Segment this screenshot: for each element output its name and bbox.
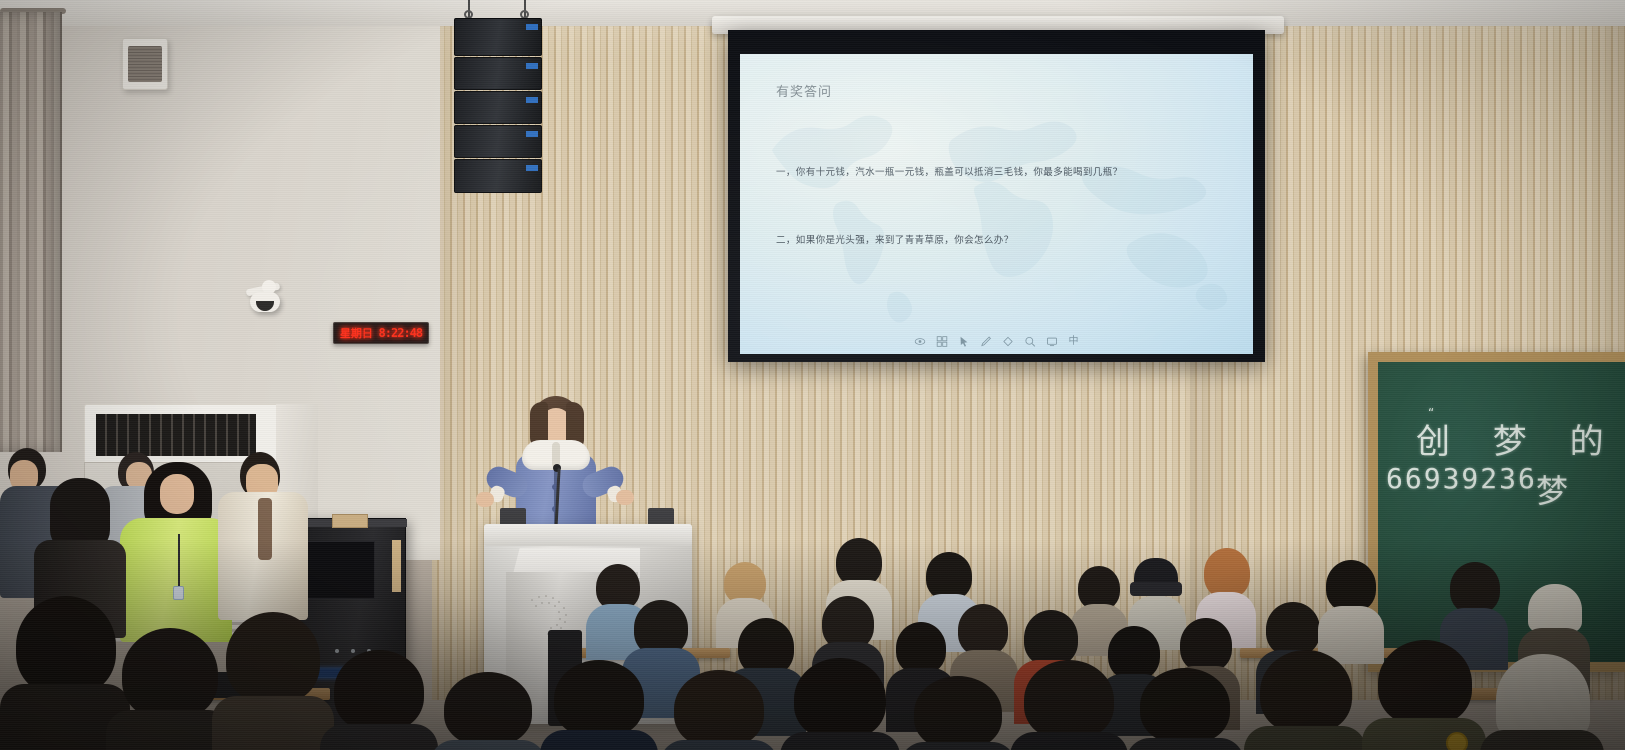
- wall-speaker: [122, 38, 168, 90]
- slide-toolbar[interactable]: 中: [913, 335, 1080, 348]
- eraser-icon[interactable]: [1001, 335, 1014, 348]
- audience-member: [320, 650, 438, 750]
- ime-icon[interactable]: 中: [1067, 335, 1080, 348]
- presenter-hand-left: [476, 492, 494, 507]
- audience-member: [660, 670, 778, 750]
- person-cream-jacket: [218, 452, 310, 622]
- audience-member: [1362, 640, 1486, 750]
- audience-member: [1126, 668, 1244, 750]
- dome-security-camera: [250, 292, 280, 312]
- person-face: [160, 474, 194, 514]
- podium-top-surface: [484, 524, 692, 546]
- chalk-line-2: 66939236: [1386, 462, 1537, 495]
- smiley-patch: [1446, 732, 1468, 750]
- led-time: 8:22:48: [379, 327, 423, 339]
- grid-icon[interactable]: [935, 335, 948, 348]
- audience-member: [1244, 650, 1366, 750]
- slide-title: 有奖答问: [776, 81, 832, 100]
- audience-member: [1480, 654, 1604, 750]
- magnifier-icon[interactable]: [1023, 335, 1036, 348]
- rack-tape-strip: [392, 540, 401, 592]
- slide-question-1: 一，你有十元钱，汽水一瓶一元钱，瓶盖可以抵消三毛钱，你最多能喝到几瓶？: [776, 164, 1123, 178]
- pen-icon[interactable]: [979, 335, 992, 348]
- projection-screen-surface[interactable]: 有奖答问 一，你有十元钱，汽水一瓶一元钱，瓶盖可以抵消三毛钱，你最多能喝到几瓶？…: [740, 54, 1253, 354]
- id-badge: [173, 586, 184, 600]
- audience-member: [430, 672, 546, 750]
- presenter-hand-right: [616, 490, 634, 505]
- slide-question-2: 二，如果你是光头强，来到了青青草原，你会怎么办？: [776, 232, 1014, 246]
- lanyard-strap: [178, 534, 180, 588]
- audience-member: [900, 676, 1016, 750]
- audience-member: [540, 660, 658, 750]
- eye-icon[interactable]: [913, 335, 926, 348]
- inner-sweater: [258, 498, 272, 560]
- window-curtain: [0, 12, 62, 452]
- line-array-speaker-stack: [454, 18, 542, 193]
- cardboard-box-on-rack: [332, 514, 368, 528]
- led-weekday: 星期日: [340, 328, 373, 339]
- audience-member: [780, 658, 900, 750]
- chalk-line-3: 梦: [1536, 466, 1568, 512]
- lecture-hall-photo: 星期日 8:22:48: [0, 0, 1625, 750]
- chalk-line-1: 创 梦 的: [1416, 414, 1620, 463]
- monitor-icon[interactable]: [1045, 335, 1058, 348]
- audience-member: [212, 612, 334, 750]
- cursor-icon[interactable]: [957, 335, 970, 348]
- audience-member: [1010, 660, 1128, 750]
- ac-grille: [96, 414, 256, 456]
- led-clock-display: 星期日 8:22:48: [333, 322, 429, 344]
